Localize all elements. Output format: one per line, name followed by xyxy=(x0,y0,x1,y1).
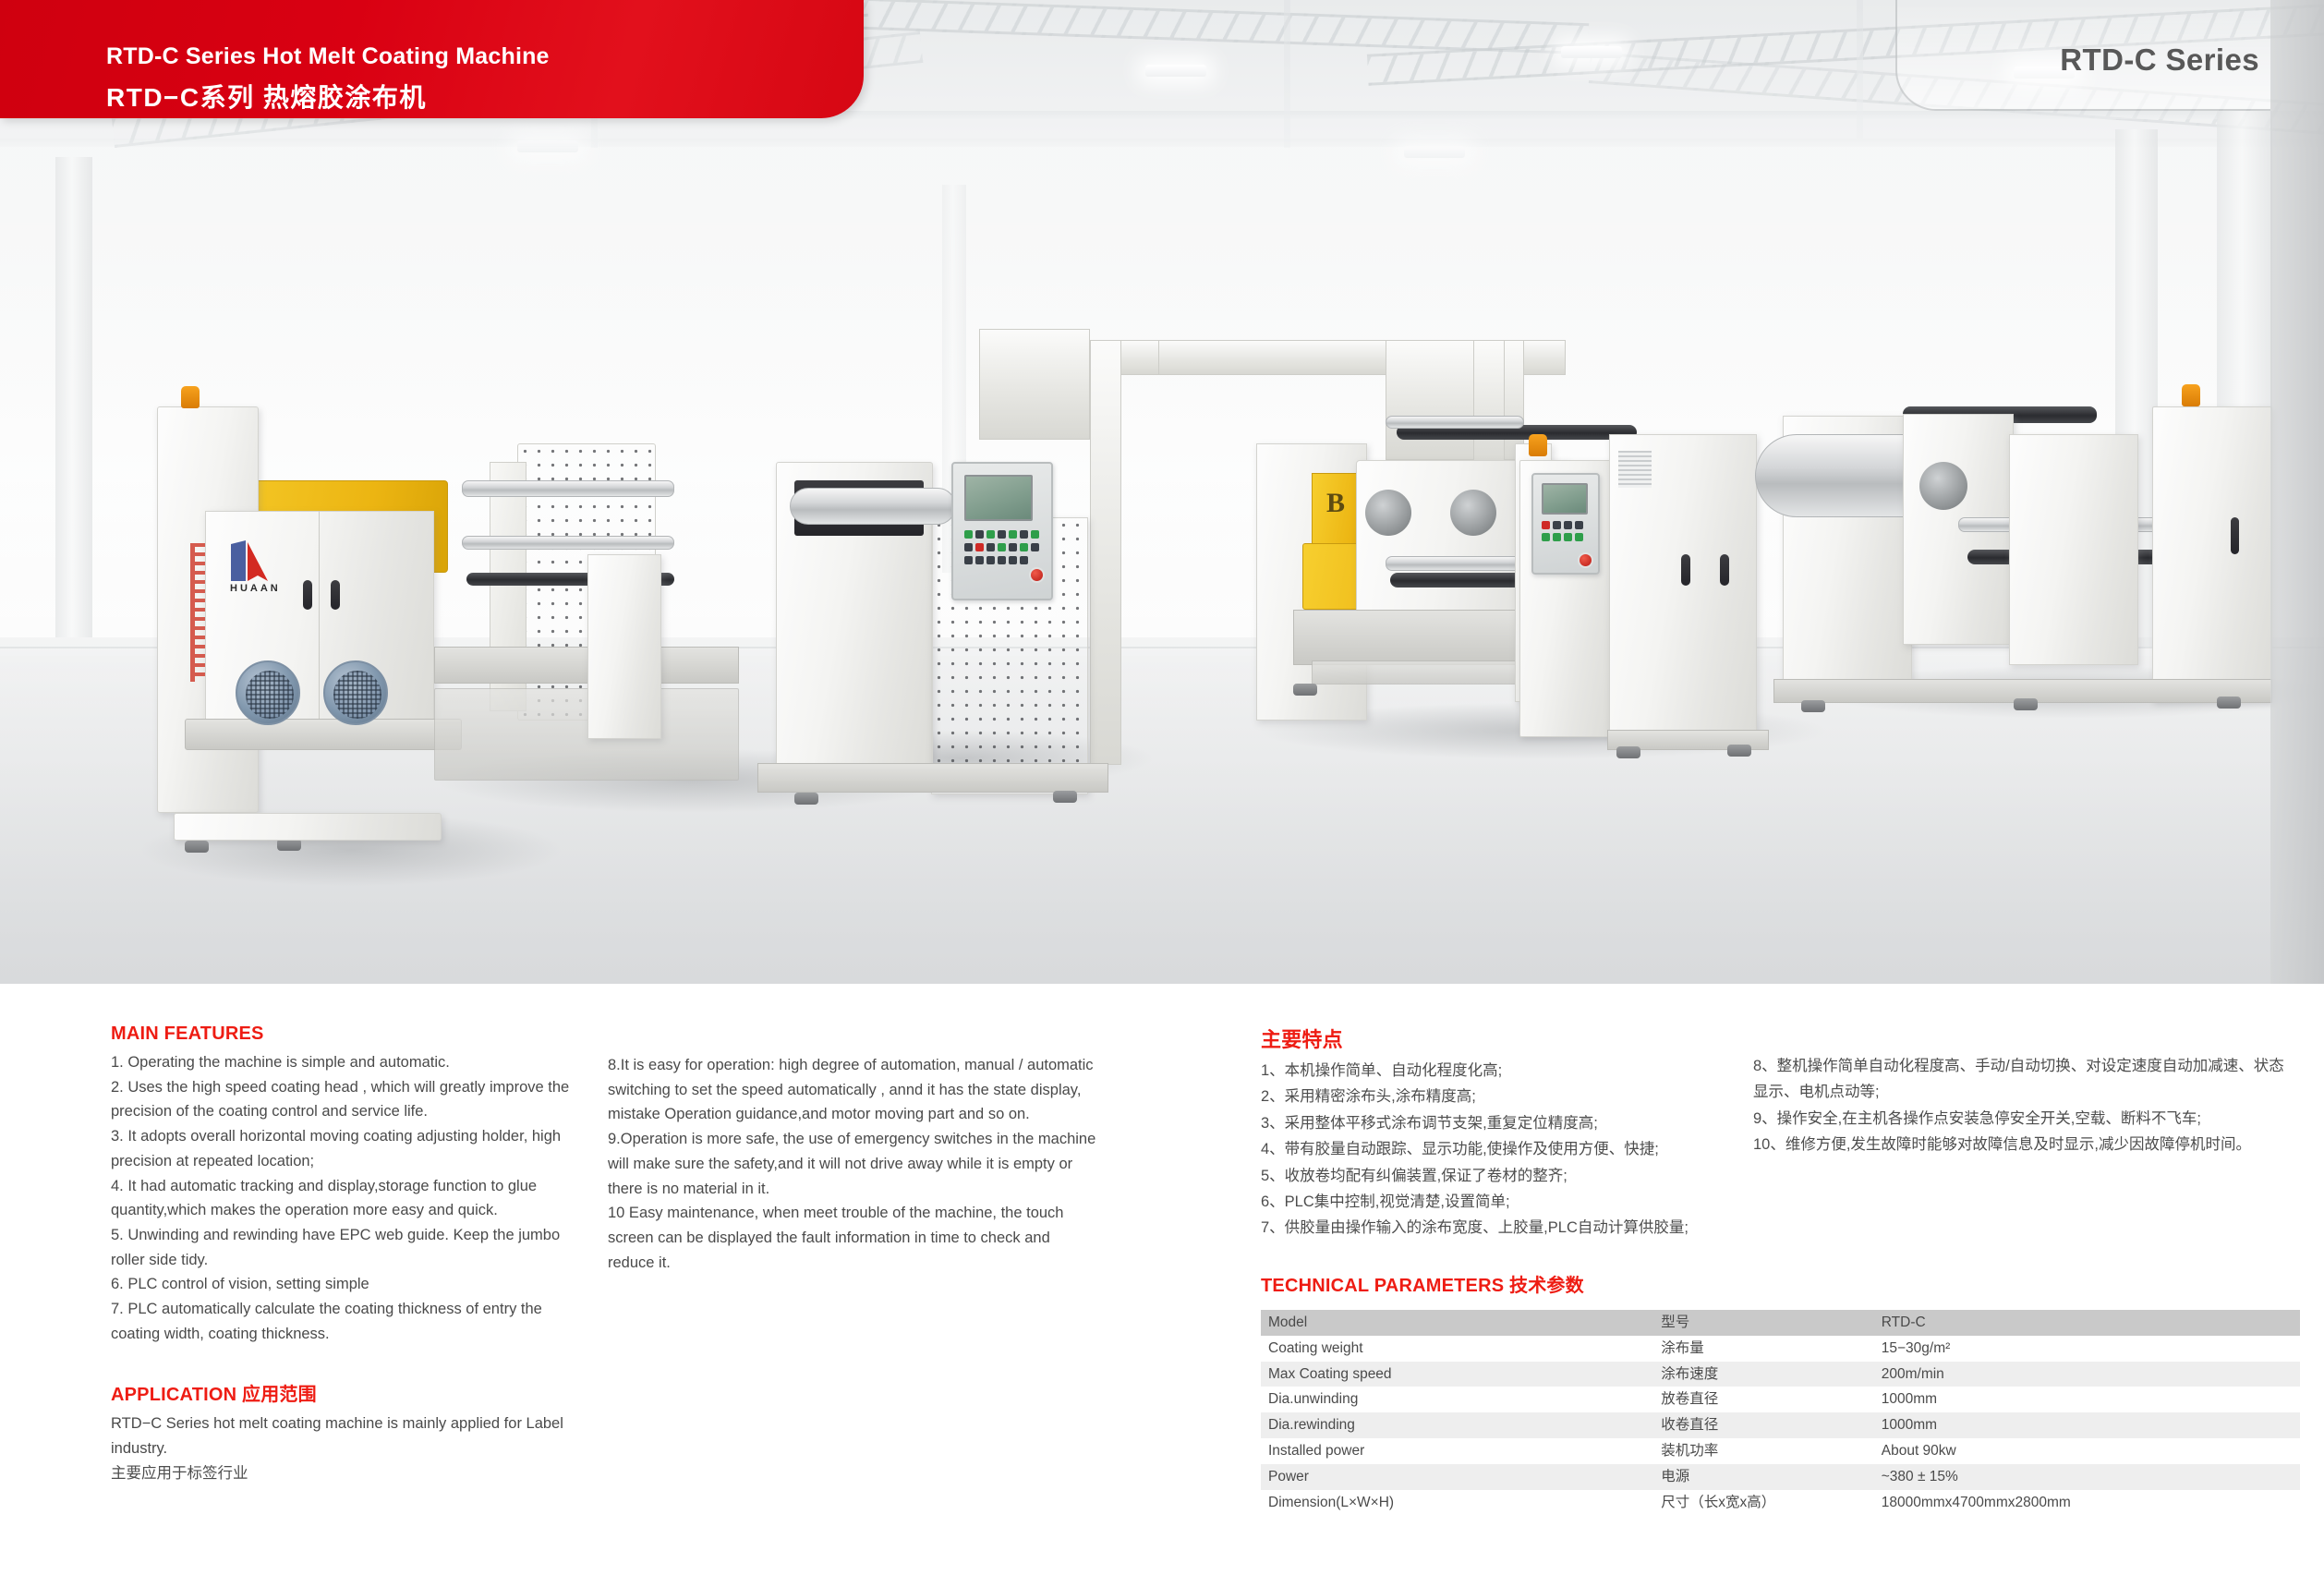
main-features-cn-column-1: 主要特点 1、本机操作简单、自动化程度化高; 2、采用精密涂布头,涂布精度高; … xyxy=(1261,1024,1741,1242)
feature-item-cn: 10、维修方便,发生故障时能够对故障信息及时显示,减少因故障停机时间。 xyxy=(1753,1132,2298,1157)
rewinder-housing xyxy=(2009,434,2138,665)
end-cabinet xyxy=(2152,406,2272,702)
support-base xyxy=(434,647,739,684)
warning-beacon xyxy=(1529,434,1547,456)
ceiling-lamp xyxy=(1561,46,1622,58)
unit-letter-b: B xyxy=(1326,488,1345,519)
application-heading: APPLICATION 应用范围 xyxy=(111,1379,591,1406)
feature-item-cn: 5、收放卷均配有纠偏装置,保证了卷材的整齐; xyxy=(1261,1163,1741,1189)
ceiling-lamp xyxy=(1145,65,1206,77)
series-tab-label: RTD-C Series xyxy=(2060,42,2259,78)
table-row: Dimension(L×W×H) 尺寸（长x宽x高） 18000mmx4700m… xyxy=(1261,1490,2300,1516)
hmi-keypad-row[interactable] xyxy=(1542,521,1583,529)
table-header-cell: RTD-C xyxy=(1874,1310,2300,1336)
application-section: APPLICATION 应用范围 RTD−C Series hot melt c… xyxy=(111,1379,591,1487)
machine-base-left xyxy=(185,719,462,750)
feature-item: 10 Easy maintenance, when meet trouble o… xyxy=(608,1201,1097,1275)
feature-item-cn: 6、PLC集中控制,视觉清楚,设置简单; xyxy=(1261,1189,1741,1215)
param-name-cn: 涂布速度 xyxy=(1653,1362,1874,1387)
hmi-keypad-row[interactable] xyxy=(964,530,1039,539)
gantry-corner-plate xyxy=(979,329,1090,440)
feature-item: 9.Operation is more safe, the use of eme… xyxy=(608,1127,1097,1201)
table-header-cell: 型号 xyxy=(1653,1310,1874,1336)
table-row: Dia.unwinding 放卷直径 1000mm xyxy=(1261,1387,2300,1412)
hall-pillar xyxy=(55,157,92,637)
ceiling-lamp xyxy=(1404,146,1465,158)
table-row: Installed power 装机功率 About 90kw xyxy=(1261,1438,2300,1464)
coiled-air-hose xyxy=(190,543,205,682)
hmi-keypad-row[interactable] xyxy=(964,543,1039,551)
shaft-chuck xyxy=(1365,490,1411,536)
feature-item-cn: 2、采用精密涂布头,涂布精度高; xyxy=(1261,1084,1741,1109)
param-name-en: Dia.unwinding xyxy=(1261,1387,1653,1412)
table-row: Coating weight 涂布量 15−30g/m² xyxy=(1261,1336,2300,1362)
technical-parameters-section: TECHNICAL PARAMETERS 技术参数 Model 型号 RTD-C… xyxy=(1261,1270,2300,1516)
conveyor-platform xyxy=(434,688,739,781)
leveling-foot xyxy=(1293,684,1317,696)
param-name-en: Power xyxy=(1261,1464,1653,1490)
main-features-cn-column-2: 8、整机操作简单自动化程度高、手动/自动切换、对设定速度自动加减速、状态显示、电… xyxy=(1753,1053,2298,1158)
guide-roller xyxy=(462,536,674,550)
hmi-screen[interactable] xyxy=(964,475,1033,521)
feature-item-cn: 4、带有胶量自动跟踪、显示功能,使操作及使用方便、快捷; xyxy=(1261,1136,1741,1162)
huaan-logo-icon xyxy=(229,539,272,587)
banner-title-cn: RTD−C系列 热熔胶涂布机 xyxy=(106,78,427,115)
feature-item: 5. Unwinding and rewinding have EPC web … xyxy=(111,1223,582,1272)
machine-logo-text: HUAAN xyxy=(230,583,281,594)
ceiling-beam xyxy=(1284,0,1290,148)
param-name-en: Dimension(L×W×H) xyxy=(1261,1490,1653,1516)
cabinet-door-seam xyxy=(319,511,320,725)
main-features-list-2: 8.It is easy for operation: high degree … xyxy=(608,1053,1097,1275)
param-value: 200m/min xyxy=(1874,1362,2300,1387)
cabinet-handle xyxy=(1681,554,1690,586)
drive-housing xyxy=(587,554,661,739)
vent-grille xyxy=(1618,451,1652,488)
param-name-en: Dia.rewinding xyxy=(1261,1412,1653,1438)
feature-item: 1. Operating the machine is simple and a… xyxy=(111,1050,582,1075)
leveling-foot xyxy=(1053,791,1077,803)
hmi-keypad-row[interactable] xyxy=(964,556,1028,564)
table-row: Dia.rewinding 收卷直径 1000mm xyxy=(1261,1412,2300,1438)
coating-roller xyxy=(790,488,956,525)
table-header-cell: Model xyxy=(1261,1310,1653,1336)
ceiling-beam xyxy=(0,139,2324,147)
gantry-column xyxy=(1090,340,1121,765)
param-name-en: Max Coating speed xyxy=(1261,1362,1653,1387)
guide-roller xyxy=(1386,416,1524,429)
shaft-chuck xyxy=(1450,490,1496,536)
param-value: ~380 ± 15% xyxy=(1874,1464,2300,1490)
brochure-page: HUAAN xyxy=(0,0,2324,1587)
param-name-cn: 收卷直径 xyxy=(1653,1412,1874,1438)
param-name-cn: 放卷直径 xyxy=(1653,1387,1874,1412)
feature-item-cn: 8、整机操作简单自动化程度高、手动/自动切换、对设定速度自动加减速、状态显示、电… xyxy=(1753,1053,2298,1106)
hmi-screen[interactable] xyxy=(1542,483,1588,515)
param-value: 1000mm xyxy=(1874,1387,2300,1412)
feature-item-cn: 1、本机操作简单、自动化程度化高; xyxy=(1261,1058,1741,1084)
leveling-foot xyxy=(1727,745,1751,757)
feature-item-cn: 7、供胶量由操作输入的涂布宽度、上胶量,PLC自动计算供胶量; xyxy=(1261,1215,1741,1241)
emergency-stop-button[interactable] xyxy=(1029,567,1045,583)
ceiling-beam xyxy=(1857,0,1863,139)
table-body: Coating weight 涂布量 15−30g/m² Max Coating… xyxy=(1261,1336,2300,1516)
cabinet-handle xyxy=(2231,517,2239,554)
feature-item: 7. PLC automatically calculate the coati… xyxy=(111,1297,582,1346)
application-text-en: RTD−C Series hot melt coating machine is… xyxy=(111,1411,591,1460)
feature-item-cn: 9、操作安全,在主机各操作点安装急停安全开关,空载、断料不飞车; xyxy=(1753,1106,2298,1132)
title-banner: RTD-C Series Hot Melt Coating Machine RT… xyxy=(0,0,864,118)
feature-item-cn: 3、采用整体平移式涂布调节支架,重复定位精度高; xyxy=(1261,1110,1741,1136)
drive-motor xyxy=(236,660,300,725)
table-row: Power 电源 ~380 ± 15% xyxy=(1261,1464,2300,1490)
param-name-cn: 涂布量 xyxy=(1653,1336,1874,1362)
param-value: 15−30g/m² xyxy=(1874,1336,2300,1362)
ceiling-lamp xyxy=(517,140,578,152)
hmi-keypad-row[interactable] xyxy=(1542,533,1583,541)
leveling-foot xyxy=(2217,697,2241,709)
feature-item: 3. It adopts overall horizontal moving c… xyxy=(111,1124,582,1173)
table-row: Max Coating speed 涂布速度 200m/min xyxy=(1261,1362,2300,1387)
shaft-chuck xyxy=(1919,462,1967,510)
main-features-cn-list-1: 1、本机操作简单、自动化程度化高; 2、采用精密涂布头,涂布精度高; 3、采用整… xyxy=(1261,1058,1741,1242)
photo-right-edge xyxy=(2270,0,2324,984)
product-photo: HUAAN xyxy=(0,0,2324,984)
feature-item: 4. It had automatic tracking and display… xyxy=(111,1174,582,1223)
drive-motor xyxy=(323,660,388,725)
emergency-stop-button[interactable] xyxy=(1578,552,1593,568)
param-name-en: Coating weight xyxy=(1261,1336,1653,1362)
feature-item: 6. PLC control of vision, setting simple xyxy=(111,1272,582,1297)
hmi-panel xyxy=(1531,473,1600,575)
param-name-cn: 电源 xyxy=(1653,1464,1874,1490)
leveling-foot xyxy=(185,841,209,853)
cabinet-handle xyxy=(1720,554,1729,586)
technical-parameters-heading: TECHNICAL PARAMETERS 技术参数 xyxy=(1261,1270,2300,1297)
hmi-panel xyxy=(951,462,1053,600)
technical-parameters-table: Model 型号 RTD-C Coating weight 涂布量 15−30g… xyxy=(1261,1310,2300,1516)
param-name-en: Installed power xyxy=(1261,1438,1653,1464)
coater-base xyxy=(757,763,1108,793)
gantry-column xyxy=(1473,340,1505,469)
table-header-row: Model 型号 RTD-C xyxy=(1261,1310,2300,1336)
main-features-list-1: 1. Operating the machine is simple and a… xyxy=(111,1050,582,1347)
banner-title-en: RTD-C Series Hot Melt Coating Machine xyxy=(106,43,550,70)
guide-roller xyxy=(462,480,674,497)
leveling-foot xyxy=(1801,700,1825,712)
main-features-column-1: MAIN FEATURES 1. Operating the machine i… xyxy=(111,1024,582,1347)
cabinet-handle xyxy=(331,580,340,610)
param-value: 18000mmx4700mmx2800mm xyxy=(1874,1490,2300,1516)
feature-item: 8.It is easy for operation: high degree … xyxy=(608,1053,1097,1127)
param-name-cn: 装机功率 xyxy=(1653,1438,1874,1464)
leveling-foot xyxy=(794,793,818,805)
application-text-cn: 主要应用于标签行业 xyxy=(111,1460,591,1486)
leveling-foot xyxy=(2014,698,2038,710)
main-features-cn-heading: 主要特点 xyxy=(1261,1024,1741,1053)
leveling-foot xyxy=(1616,746,1640,758)
warning-beacon xyxy=(181,386,200,408)
param-value: About 90kw xyxy=(1874,1438,2300,1464)
feature-item: 2. Uses the high speed coating head , wh… xyxy=(111,1075,582,1124)
main-features-heading: MAIN FEATURES xyxy=(111,1024,582,1045)
main-features-column-2: 8.It is easy for operation: high degree … xyxy=(608,1053,1097,1275)
param-value: 1000mm xyxy=(1874,1412,2300,1438)
main-features-cn-list-2: 8、整机操作简单自动化程度高、手动/自动切换、对设定速度自动加减速、状态显示、电… xyxy=(1753,1053,2298,1158)
param-name-cn: 尺寸（长x宽x高） xyxy=(1653,1490,1874,1516)
warning-beacon xyxy=(2182,384,2200,406)
base-plate xyxy=(174,813,442,841)
cabinet-handle xyxy=(303,580,312,610)
